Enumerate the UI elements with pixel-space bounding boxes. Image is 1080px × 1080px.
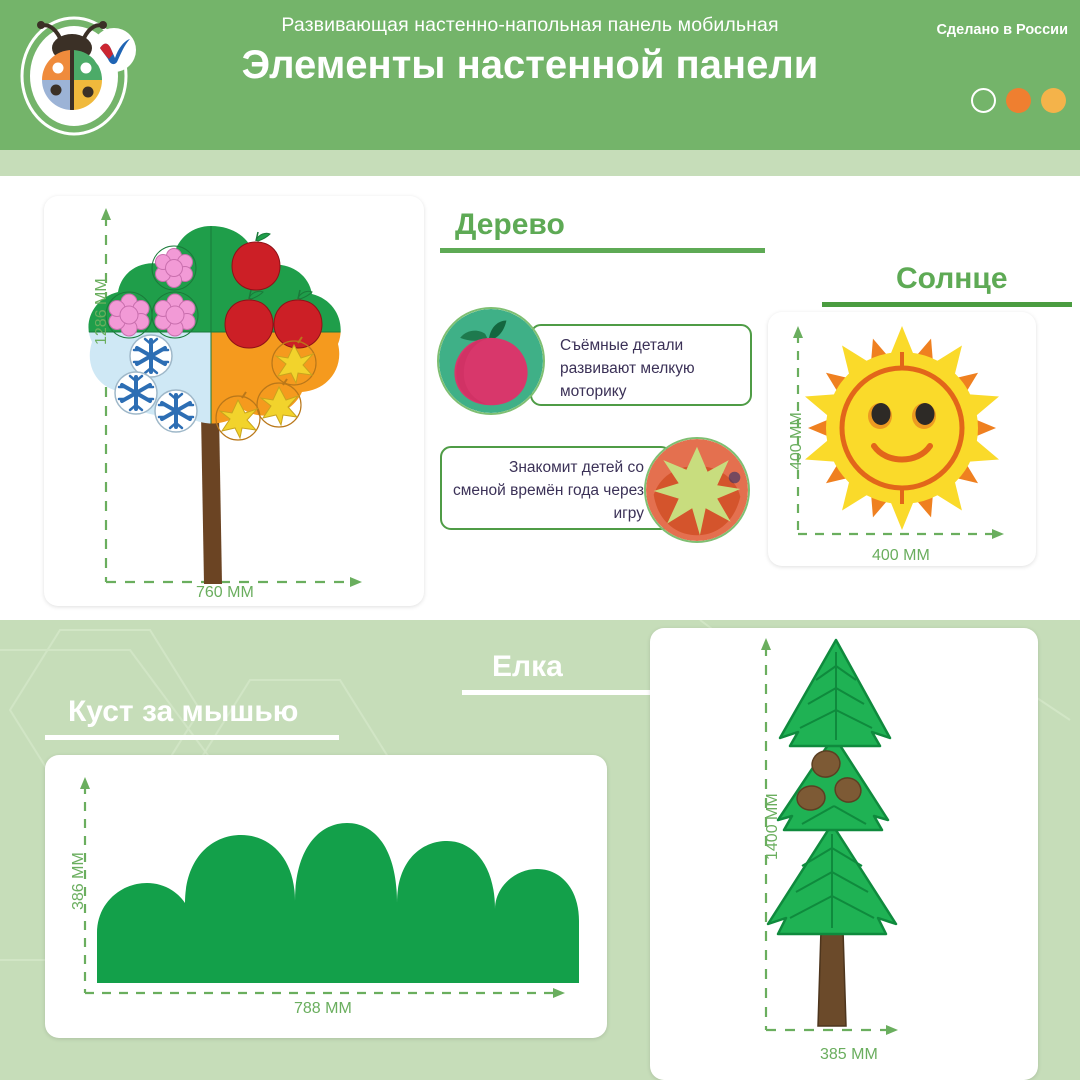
infographic-page: Развивающая настенно-напольная панель мо… <box>0 0 1080 1080</box>
bush-height-label: 386 ММ <box>70 852 88 910</box>
callout-removable-parts: Съёмные детали развивают мелкую моторику <box>530 324 752 406</box>
header-accent-band <box>0 150 1080 176</box>
section-underline-sun <box>822 302 1072 307</box>
section-title-bush: Куст за мышью <box>68 695 298 729</box>
tree-height-label: 1286 ММ <box>93 278 111 345</box>
section-title-tree: Дерево <box>455 208 565 242</box>
page-title: Элементы настенной панели <box>150 42 910 89</box>
four-seasons-tree-illustration <box>44 196 424 606</box>
circle-orange-icon <box>1006 88 1031 113</box>
tree-width-label: 760 ММ <box>196 584 254 602</box>
apple-photo-icon <box>437 307 545 415</box>
section-underline-bush <box>45 735 339 740</box>
section-title-sun: Солнце <box>896 262 1008 296</box>
section-title-fir: Елка <box>492 650 563 684</box>
section-underline-tree <box>440 248 765 253</box>
header-subtitle: Развивающая настенно-напольная панель мо… <box>150 14 910 37</box>
ladybug-logo <box>16 12 140 138</box>
fir-tree-illustration <box>650 628 1038 1080</box>
maple-leaf-photo-icon <box>644 437 750 543</box>
made-in-russia-label: Сделано в России <box>936 22 1068 38</box>
callout-seasons-learning: Знакомит детей со сменой времён года чер… <box>440 446 672 530</box>
fir-width-label: 385 ММ <box>820 1046 878 1064</box>
green-bush-illustration <box>45 755 607 1038</box>
smiling-sun-illustration <box>768 312 1036 566</box>
circle-amber-icon <box>1041 88 1066 113</box>
sun-width-label: 400 ММ <box>872 547 930 565</box>
flag-dots <box>971 88 1066 113</box>
fir-height-label: 1400 ММ <box>764 793 782 860</box>
sun-height-label: 400 ММ <box>788 412 806 470</box>
circle-white-icon <box>971 88 996 113</box>
bush-width-label: 788 ММ <box>294 1000 352 1018</box>
